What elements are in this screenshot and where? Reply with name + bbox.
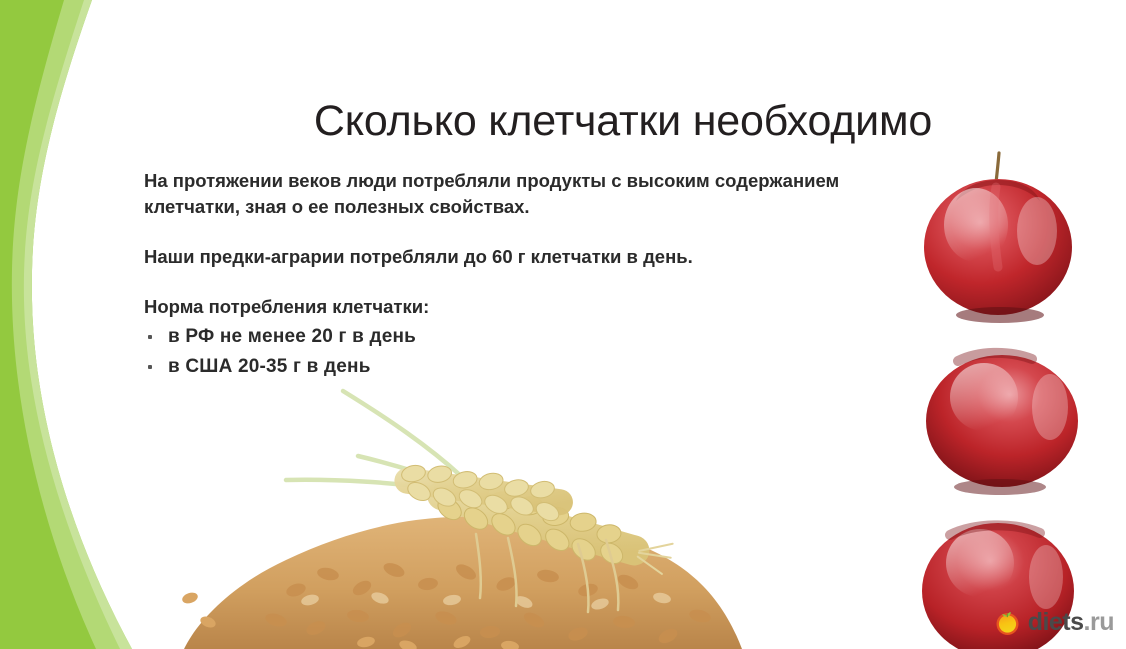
paragraph-history: На протяжении веков люди потребляли прод… [144, 168, 844, 220]
list-item-label: в РФ не менее 20 г в день [168, 326, 416, 347]
list-item: в США 20-35 г в день [144, 352, 844, 382]
apple-middle [926, 353, 1078, 487]
wheat-pile-image [176, 384, 751, 649]
slide-body: На протяжении веков люди потребляли прод… [144, 168, 844, 382]
list-item: в РФ не менее 20 г в день [144, 322, 844, 352]
bullet-dot-icon [148, 365, 152, 369]
watermark-tld: .ru [1084, 608, 1114, 636]
norm-heading: Норма потребления клетчатки: [144, 294, 844, 320]
apple-stem-icon [996, 153, 999, 183]
diets-ru-watermark[interactable]: diets.ru [988, 601, 1120, 643]
stacked-apples-image [898, 139, 1108, 649]
watermark-text: diets.ru [1028, 610, 1114, 635]
watermark-brand: diets [1028, 608, 1084, 636]
norm-list: в РФ не менее 20 г в день в США 20-35 г … [144, 322, 844, 382]
norm-block: Норма потребления клетчатки: в РФ не мен… [144, 294, 844, 382]
list-item-label: в США 20-35 г в день [168, 356, 371, 377]
paragraph-ancestors: Наши предки-аграрии потребляли до 60 г к… [144, 244, 844, 270]
apple-top [924, 179, 1072, 315]
apple-icon [994, 609, 1021, 636]
grain-heap [184, 516, 742, 649]
slide-canvas: Сколько клетчатки необходимо На протяжен… [0, 0, 1126, 649]
bullet-dot-icon [148, 335, 152, 339]
